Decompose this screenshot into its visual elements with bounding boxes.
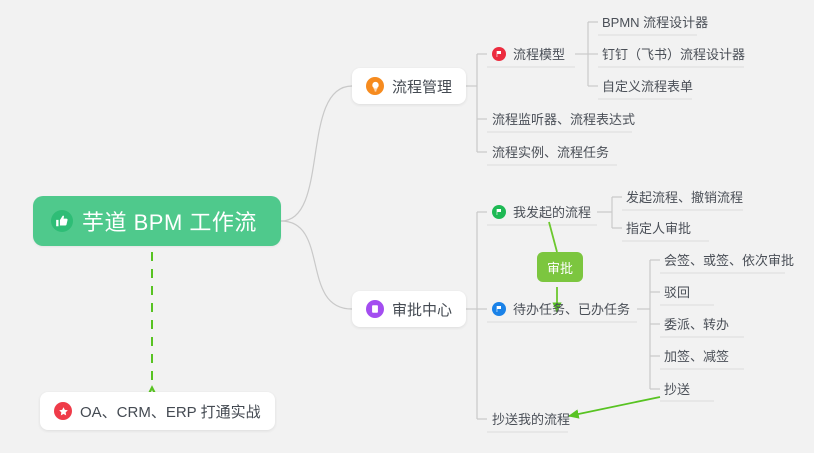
node-label-countersign: 会签、或签、依次审批: [664, 254, 794, 267]
lightbulb-icon: [366, 77, 384, 95]
branch-node-process-management[interactable]: 流程管理: [352, 68, 466, 104]
flag-red-icon: [492, 47, 506, 61]
branch-label-process-management: 流程管理: [392, 76, 452, 97]
flag-blue-icon: [492, 302, 506, 316]
node-label-process-instance: 流程实例、流程任务: [492, 146, 609, 159]
node-countersign[interactable]: 会签、或签、依次审批: [662, 248, 800, 272]
mindmap-canvas: 芋道 BPM 工作流 OA、CRM、ERP 打通实战 流程管理 流程模型: [0, 0, 814, 453]
node-delegate[interactable]: 委派、转办: [662, 312, 735, 336]
root-label: 芋道 BPM 工作流: [82, 205, 257, 237]
node-todo-done[interactable]: 待办任务、已办任务: [490, 297, 636, 321]
node-label-custom-form: 自定义流程表单: [602, 80, 693, 93]
node-label-delegate: 委派、转办: [664, 318, 729, 331]
node-label-cc-to-me: 抄送我的流程: [492, 413, 570, 426]
thumbs-up-icon: [51, 210, 73, 232]
node-label-start-cancel: 发起流程、撤销流程: [626, 191, 743, 204]
node-assignee-approve[interactable]: 指定人审批: [624, 216, 697, 240]
node-label-todo-done: 待办任务、已办任务: [513, 303, 630, 316]
node-add-remove-sign[interactable]: 加签、减签: [662, 344, 735, 368]
bottom-note-label: OA、CRM、ERP 打通实战: [80, 401, 261, 422]
node-label-cc: 抄送: [664, 383, 690, 396]
node-label-process-listener: 流程监听器、流程表达式: [492, 113, 635, 126]
node-label-assignee-approve: 指定人审批: [626, 222, 691, 235]
node-my-initiated[interactable]: 我发起的流程: [490, 200, 597, 224]
node-label-my-initiated: 我发起的流程: [513, 206, 591, 219]
node-process-instance[interactable]: 流程实例、流程任务: [490, 140, 615, 164]
node-label-add-remove-sign: 加签、减签: [664, 350, 729, 363]
node-label-bpmn-designer: BPMN 流程设计器: [602, 16, 708, 29]
node-label-dingtalk-designer: 钉钉（飞书）流程设计器: [602, 48, 745, 61]
root-node[interactable]: 芋道 BPM 工作流: [33, 196, 281, 246]
node-bpmn-designer[interactable]: BPMN 流程设计器: [600, 10, 714, 34]
node-process-model[interactable]: 流程模型: [490, 42, 571, 66]
branch-label-approval-center: 审批中心: [392, 299, 452, 320]
node-label-reject: 驳回: [664, 286, 690, 299]
bottom-note-node[interactable]: OA、CRM、ERP 打通实战: [40, 392, 275, 430]
node-process-listener[interactable]: 流程监听器、流程表达式: [490, 107, 641, 131]
node-start-cancel[interactable]: 发起流程、撤销流程: [624, 185, 749, 209]
branch-node-approval-center[interactable]: 审批中心: [352, 291, 466, 327]
node-label-process-model: 流程模型: [513, 48, 565, 61]
node-cc[interactable]: 抄送: [662, 377, 696, 401]
clipboard-icon: [366, 300, 384, 318]
approval-tag: 审批: [537, 252, 583, 282]
node-custom-form[interactable]: 自定义流程表单: [600, 74, 699, 98]
node-dingtalk-designer[interactable]: 钉钉（飞书）流程设计器: [600, 42, 751, 66]
flag-green-icon: [492, 205, 506, 219]
node-reject[interactable]: 驳回: [662, 280, 696, 304]
node-cc-to-me[interactable]: 抄送我的流程: [490, 407, 576, 431]
star-icon: [54, 402, 72, 420]
